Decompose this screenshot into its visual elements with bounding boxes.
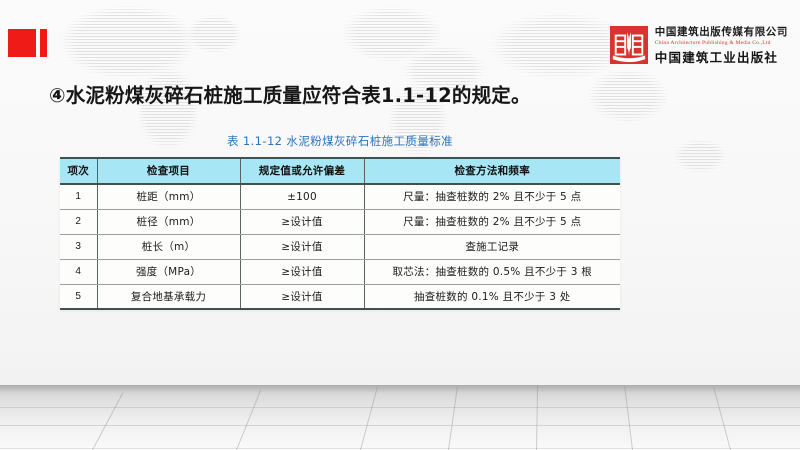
cell-index: 3 — [60, 234, 97, 259]
cell-index: 4 — [60, 259, 97, 284]
floor-vertical-line — [624, 385, 633, 450]
publisher-press-cn: 中国建筑工业出版社 — [655, 47, 788, 66]
cell-spec: ≥设计值 — [240, 209, 364, 234]
quality-standard-table: 项次 检查项目 规定值或允许偏差 检查方法和频率 1 桩距（mm） ±100 尺… — [60, 157, 620, 310]
cell-item: 桩距（mm） — [97, 184, 240, 209]
column-header-index: 项次 — [60, 158, 97, 184]
floor-vertical-line — [448, 386, 458, 450]
cell-spec: ≥设计值 — [240, 284, 364, 309]
cell-method: 取芯法：抽查桩数的 0.5% 且不少于 3 根 — [364, 259, 620, 284]
floor-vertical-line — [536, 385, 538, 450]
publisher-logo-text: 中国建筑出版传媒有限公司 China Architecture Publishi… — [655, 24, 788, 66]
column-header-method: 检查方法和频率 — [364, 158, 620, 184]
table-body: 1 桩距（mm） ±100 尺量：抽查桩数的 2% 且不少于 5 点 2 桩径（… — [60, 184, 620, 309]
cell-item: 强度（MPa） — [97, 259, 240, 284]
perspective-floor-decoration — [0, 385, 800, 450]
cell-method: 尺量：抽查桩数的 2% 且不少于 5 点 — [364, 184, 620, 209]
floor-horizontal-line — [0, 407, 800, 408]
cell-spec: ±100 — [240, 184, 364, 209]
slide-canvas: 中国建筑出版传媒有限公司 China Architecture Publishi… — [0, 0, 800, 450]
red-square-mark-icon — [8, 29, 36, 57]
floor-horizontal-line — [0, 448, 800, 449]
cell-spec: ≥设计值 — [240, 234, 364, 259]
publisher-company-cn: 中国建筑出版传媒有限公司 — [655, 24, 788, 39]
table-row: 5 复合地基承载力 ≥设计值 抽查桩数的 0.1% 且不少于 3 处 — [60, 284, 620, 309]
floor-horizontal-line — [0, 425, 800, 426]
page-title: ④水泥粉煤灰碎石桩施工质量应符合表1.1-12的规定。 — [49, 79, 531, 108]
cell-item: 桩径（mm） — [97, 209, 240, 234]
cell-index: 1 — [60, 184, 97, 209]
publisher-company-en: China Architecture Publishing & Media Co… — [655, 40, 788, 46]
table-caption: 表 1.1-12 水泥粉煤灰碎石桩施工质量标准 — [60, 133, 620, 157]
floor-vertical-line — [236, 390, 261, 450]
cell-method: 抽查桩数的 0.1% 且不少于 3 处 — [364, 284, 620, 309]
cell-index: 5 — [60, 284, 97, 309]
table-row: 4 强度（MPa） ≥设计值 取芯法：抽查桩数的 0.5% 且不少于 3 根 — [60, 259, 620, 284]
open-book-logo-icon — [610, 26, 648, 64]
cell-item: 复合地基承载力 — [97, 284, 240, 309]
cell-method: 尺量：抽查桩数的 2% 且不少于 5 点 — [364, 209, 620, 234]
publisher-logo: 中国建筑出版传媒有限公司 China Architecture Publishi… — [610, 24, 788, 66]
cell-index: 2 — [60, 209, 97, 234]
cell-method: 查施工记录 — [364, 234, 620, 259]
cell-spec: ≥设计值 — [240, 259, 364, 284]
floor-vertical-line — [360, 387, 378, 450]
table-row: 2 桩径（mm） ≥设计值 尺量：抽查桩数的 2% 且不少于 5 点 — [60, 209, 620, 234]
table-row: 3 桩长（m） ≥设计值 查施工记录 — [60, 234, 620, 259]
table-row: 1 桩距（mm） ±100 尺量：抽查桩数的 2% 且不少于 5 点 — [60, 184, 620, 209]
column-header-spec: 规定值或允许偏差 — [240, 158, 364, 184]
spec-table-block: 表 1.1-12 水泥粉煤灰碎石桩施工质量标准 项次 检查项目 规定值或允许偏差… — [60, 133, 620, 310]
column-header-item: 检查项目 — [97, 158, 240, 184]
red-bar-mark-icon — [40, 29, 47, 57]
table-header-row: 项次 检查项目 规定值或允许偏差 检查方法和频率 — [60, 158, 620, 184]
floor-vertical-line — [92, 392, 123, 450]
floor-horizon-shade — [0, 385, 800, 393]
floor-vertical-line — [713, 387, 731, 450]
cell-item: 桩长（m） — [97, 234, 240, 259]
